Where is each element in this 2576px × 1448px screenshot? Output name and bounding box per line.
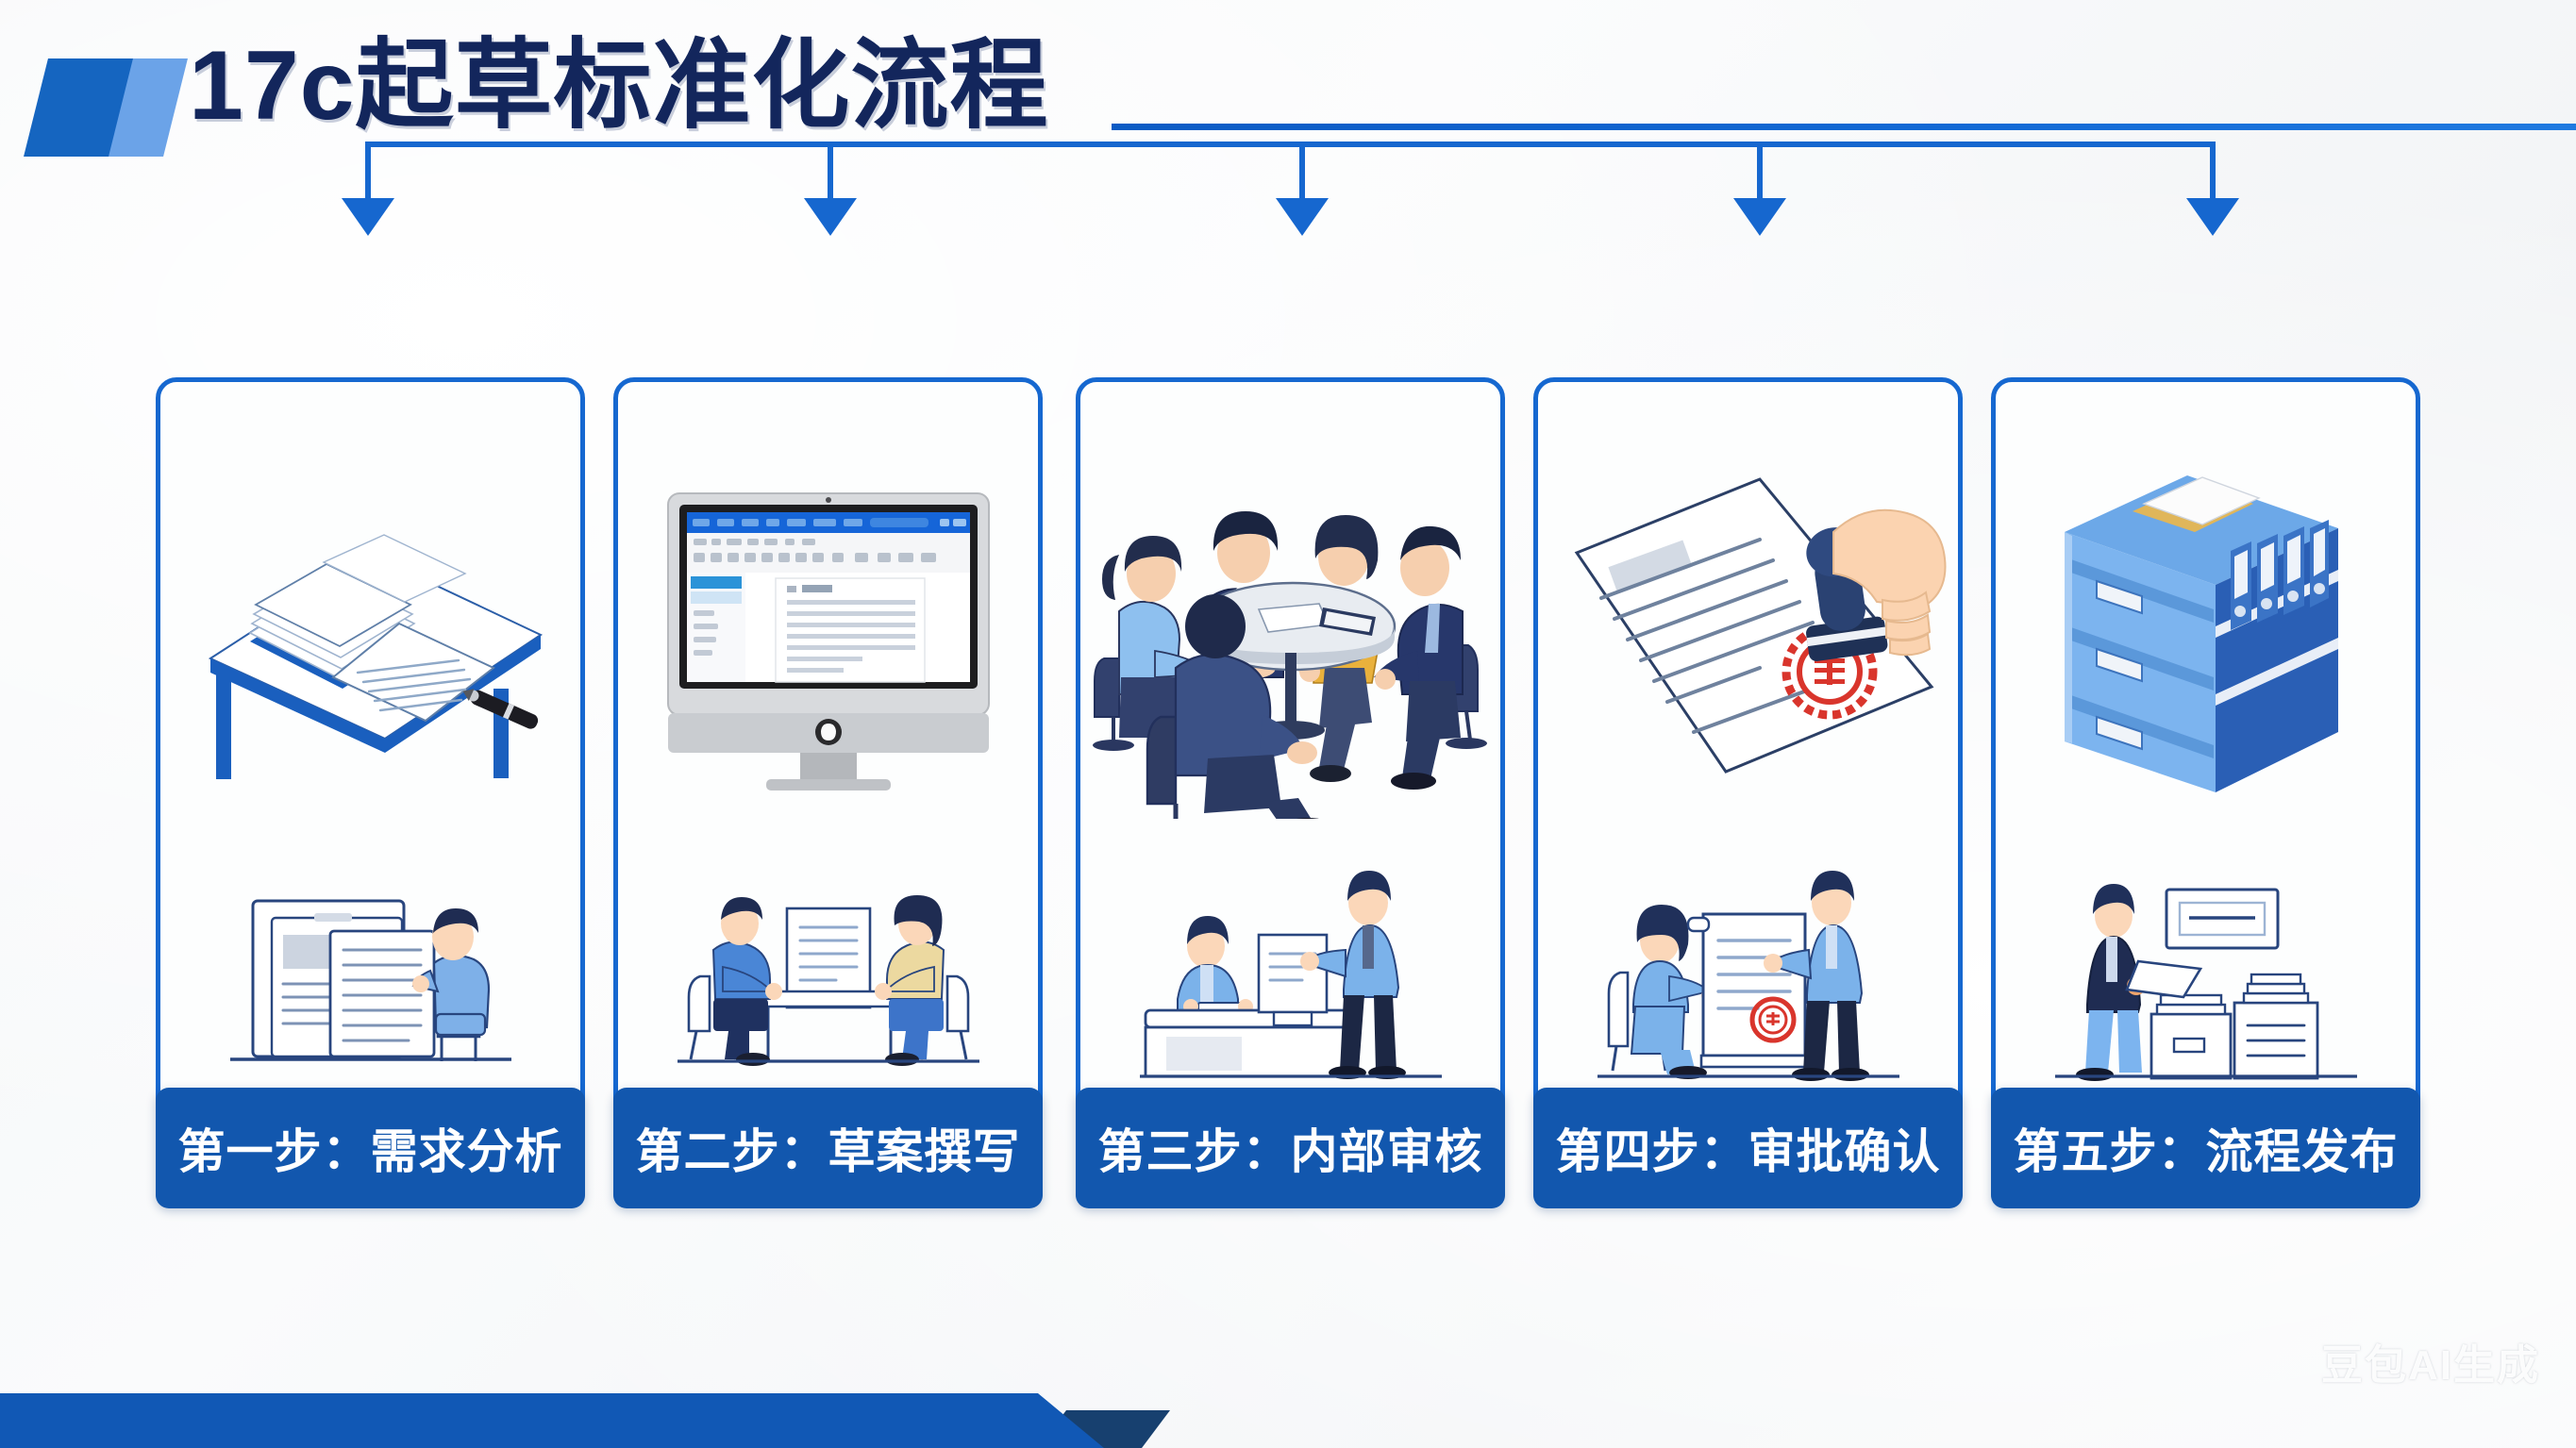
process-step-cards: 第一步：需求分析 [0,377,2576,1273]
two-people-table-document-illustration [618,854,1038,1108]
step-label-2[interactable]: 第二步：草案撰写 [613,1088,1043,1208]
connector-horizontal-bus [368,141,2216,147]
step-card-4[interactable]: 第四步：审批确认 [1533,377,1963,1207]
connector-arrow-2-icon [804,198,857,236]
desk-review-presenter-illustration [1080,854,1500,1108]
step-card-2[interactable]: 第二步：草案撰写 [613,377,1043,1207]
desk-documents-pen-illustration [160,408,580,852]
step-card-3[interactable]: 第三步：内部审核 [1076,377,1505,1207]
document-archiving-illustration [1996,854,2416,1108]
connector-stem-4 [1757,141,1763,200]
round-table-meeting-illustration [1080,408,1500,852]
page-title: 17c起草标准化流程 [189,31,1049,141]
stamp-approval-illustration [1538,408,1958,852]
connector-arrow-4-icon [1733,198,1786,236]
connector-arrow-1-icon [342,198,394,236]
connector-stem-1 [365,141,371,200]
footer-band-icon [0,1393,1104,1448]
connector-arrow-3-icon [1276,198,1329,236]
step-card-5[interactable]: 第五步：流程发布 [1991,377,2420,1207]
connector-stem-5 [2210,141,2216,200]
step-label-4[interactable]: 第四步：审批确认 [1533,1088,1963,1208]
desktop-computer-illustration [618,408,1038,852]
title-rule-divider [1112,124,2576,130]
connector-stem-3 [1299,141,1305,200]
step-label-3[interactable]: 第三步：内部审核 [1076,1088,1505,1208]
step-card-1[interactable]: 第一步：需求分析 [156,377,585,1207]
connector-stem-2 [828,141,833,200]
stamped-document-handover-illustration [1538,854,1958,1108]
filing-cabinet-illustration [1996,408,2416,852]
watermark-label: 豆包AI生成 [2321,1331,2540,1391]
connector-arrow-5-icon [2186,198,2239,236]
person-reviewing-documents-illustration [160,854,580,1108]
flow-connector-group [0,132,2576,236]
step-label-1[interactable]: 第一步：需求分析 [156,1088,585,1208]
step-label-5[interactable]: 第五步：流程发布 [1991,1088,2420,1208]
